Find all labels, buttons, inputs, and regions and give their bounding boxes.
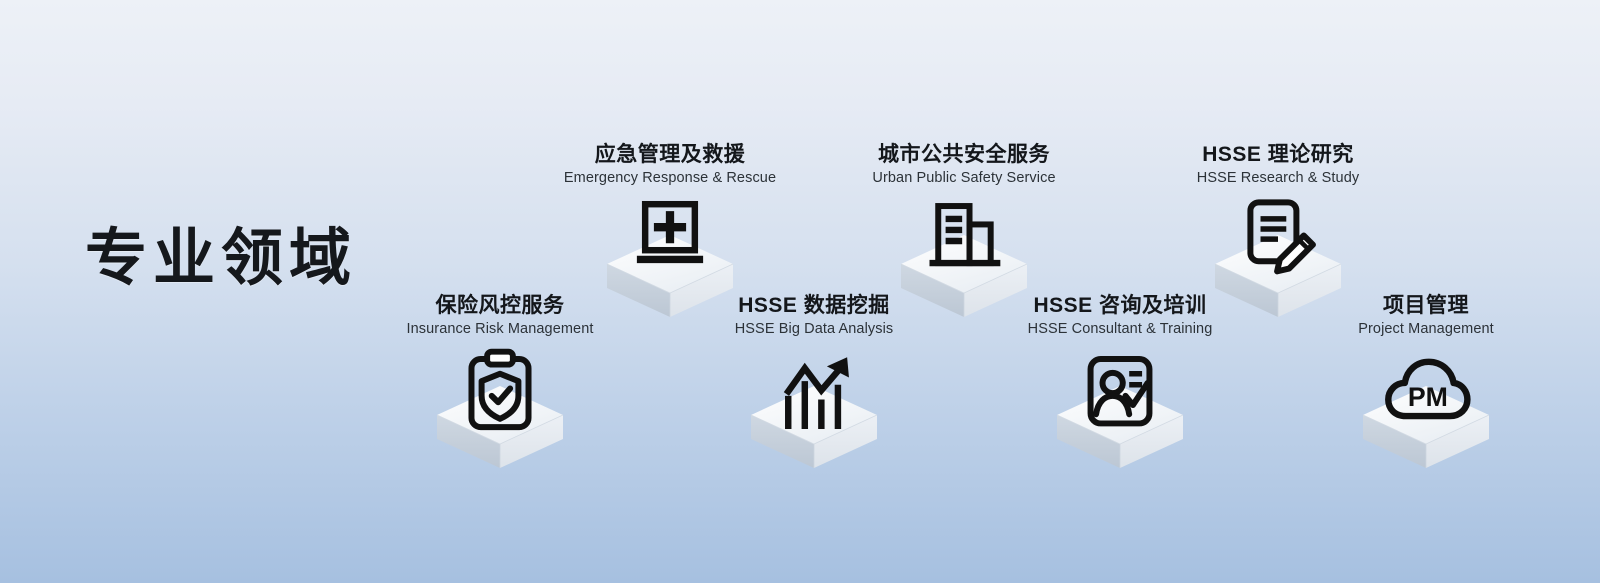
service-pedestal-wrap [684, 348, 944, 468]
isometric-cube-pedestal-project-management [1360, 382, 1492, 468]
isometric-cube-pedestal-insurance-risk-management [434, 382, 566, 468]
service-pedestal-wrap: PM [1296, 348, 1556, 468]
service-label-en-hsse-consultant-training: HSSE Consultant & Training [990, 321, 1250, 338]
service-label-zh-project-management: 项目管理 [1296, 294, 1556, 317]
service-label-en-hsse-research-study: HSSE Research & Study [1148, 170, 1408, 187]
service-label-zh-hsse-research-study: HSSE 理论研究 [1148, 143, 1408, 166]
service-label-zh-emergency-response-rescue: 应急管理及救援 [540, 143, 800, 166]
service-item-insurance-risk-management[interactable]: 保险风控服务 Insurance Risk Management [370, 294, 630, 468]
service-label-en-hsse-big-data-analysis: HSSE Big Data Analysis [684, 321, 944, 338]
service-item-hsse-big-data-analysis[interactable]: HSSE 数据挖掘 HSSE Big Data Analysis [684, 294, 944, 468]
service-label-zh-hsse-consultant-training: HSSE 咨询及培训 [990, 294, 1250, 317]
service-item-hsse-consultant-training[interactable]: HSSE 咨询及培训 HSSE Consultant & Training [990, 294, 1250, 468]
service-item-project-management[interactable]: 项目管理 Project Management [1296, 294, 1556, 468]
service-label-zh-hsse-big-data-analysis: HSSE 数据挖掘 [684, 294, 944, 317]
service-item-hsse-research-study[interactable]: HSSE 理论研究 HSSE Research & Study [1148, 143, 1408, 317]
professional-fields-banner: 专业领域 应急管理及救援 Emergency Response & Rescue [0, 0, 1600, 583]
service-label-en-project-management: Project Management [1296, 321, 1556, 338]
service-label-zh-insurance-risk-management: 保险风控服务 [370, 294, 630, 317]
service-pedestal-wrap [370, 348, 630, 468]
service-item-emergency-response-rescue[interactable]: 应急管理及救援 Emergency Response & Rescue [540, 143, 800, 317]
service-pedestal-wrap [990, 348, 1250, 468]
isometric-cube-pedestal-hsse-big-data-analysis [748, 382, 880, 468]
service-label-en-insurance-risk-management: Insurance Risk Management [370, 321, 630, 338]
service-label-en-urban-public-safety-service: Urban Public Safety Service [834, 170, 1094, 187]
page-title: 专业领域 [85, 228, 357, 290]
service-label-en-emergency-response-rescue: Emergency Response & Rescue [540, 170, 800, 187]
isometric-cube-pedestal-hsse-consultant-training [1054, 382, 1186, 468]
service-label-zh-urban-public-safety-service: 城市公共安全服务 [834, 143, 1094, 166]
service-item-urban-public-safety-service[interactable]: 城市公共安全服务 Urban Public Safety Service [834, 143, 1094, 317]
